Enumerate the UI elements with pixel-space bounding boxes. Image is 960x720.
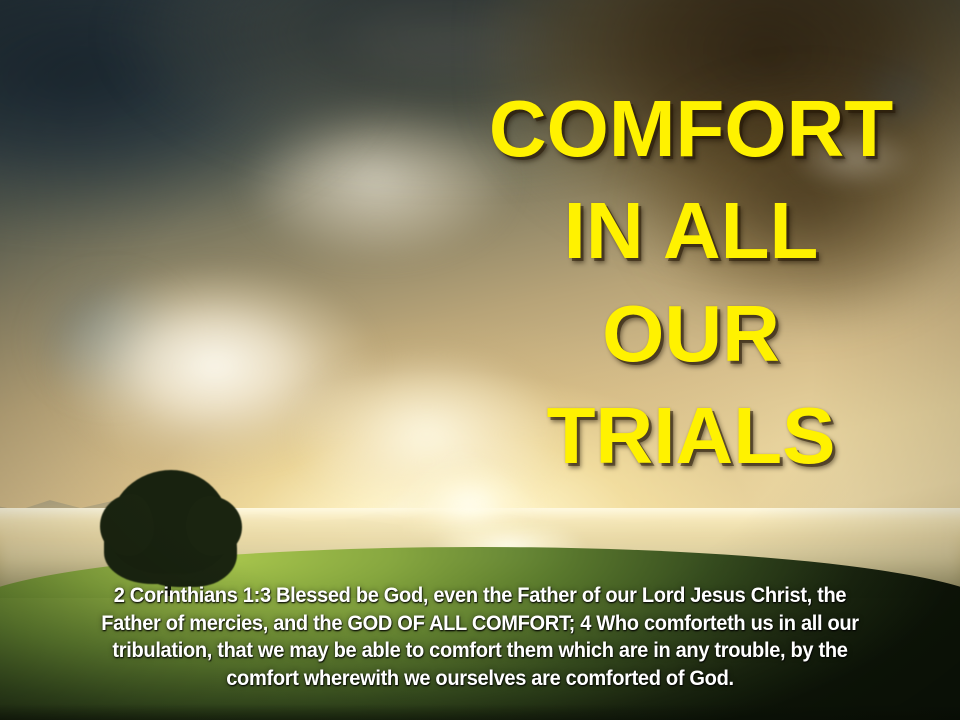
hill-shadow xyxy=(0,704,960,720)
scripture-line-3: tribulation, that we may be able to comf… xyxy=(39,637,921,665)
scripture-line-2: Father of mercies, and the GOD OF ALL CO… xyxy=(39,610,921,638)
title-line-3: OUR xyxy=(466,283,916,385)
scripture-slide: COMFORT IN ALL OUR TRIALS 2 Corinthians … xyxy=(0,0,960,720)
lone-tree-silhouette xyxy=(110,470,230,596)
scripture-passage: 2 Corinthians 1:3 Blessed be God, even t… xyxy=(18,582,942,692)
scripture-line-4: comfort wherewith we ourselves are comfo… xyxy=(39,665,921,693)
tree-canopy xyxy=(110,470,230,574)
title-line-2: IN ALL xyxy=(466,180,916,282)
scripture-line-1: 2 Corinthians 1:3 Blessed be God, even t… xyxy=(39,582,921,610)
title-line-1: COMFORT xyxy=(466,78,916,180)
slide-title: COMFORT IN ALL OUR TRIALS xyxy=(466,78,916,488)
title-line-4: TRIALS xyxy=(466,385,916,487)
